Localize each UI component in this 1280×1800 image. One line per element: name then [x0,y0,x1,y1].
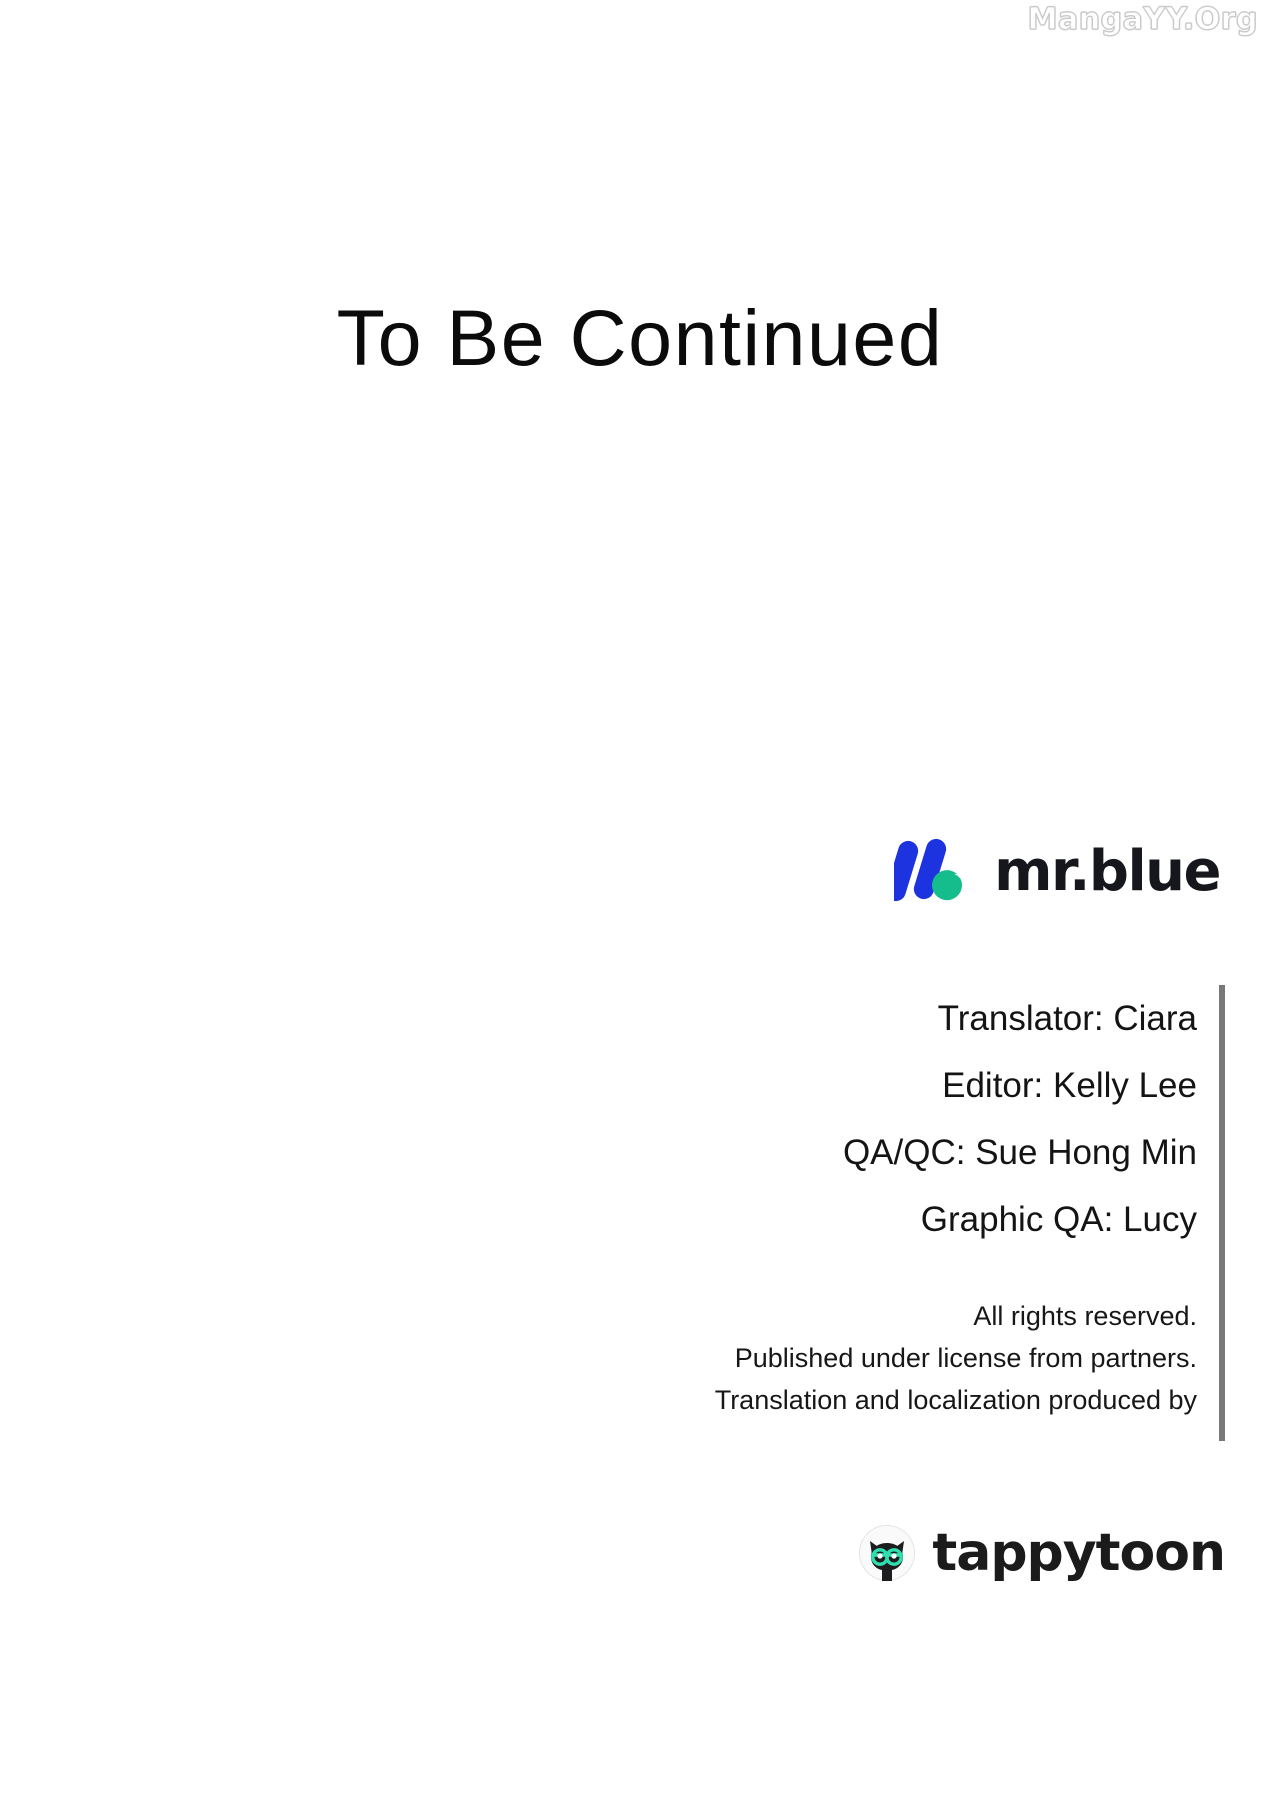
mr-blue-logo-icon [894,838,972,906]
site-watermark: MangaYY.Org [1028,2,1258,37]
legal-notice: All rights reserved. Published under lic… [605,1295,1197,1441]
publisher-logo: mr.blue [894,838,1220,906]
tappytoon-cat-icon [858,1524,916,1582]
legal-line-localization: Translation and localization produced by [605,1379,1197,1421]
credits-panel: Translator: Ciara Editor: Kelly Lee QA/Q… [605,985,1225,1441]
page-canvas: MangaYY.Org To Be Continued mr.blue Tran… [0,0,1280,1800]
credit-line-graphic-qa: Graphic QA: Lucy [605,1186,1197,1253]
localizer-logo: tappytoon [858,1524,1225,1582]
credit-line-editor: Editor: Kelly Lee [605,1052,1197,1119]
localizer-wordmark: tappytoon [932,1527,1225,1579]
credit-line-translator: Translator: Ciara [605,985,1197,1052]
publisher-wordmark: mr.blue [994,844,1220,900]
legal-line-license: Published under license from partners. [605,1337,1197,1379]
legal-line-rights: All rights reserved. [605,1295,1197,1337]
credit-line-qa-qc: QA/QC: Sue Hong Min [605,1119,1197,1186]
to-be-continued-headline: To Be Continued [0,292,1280,384]
